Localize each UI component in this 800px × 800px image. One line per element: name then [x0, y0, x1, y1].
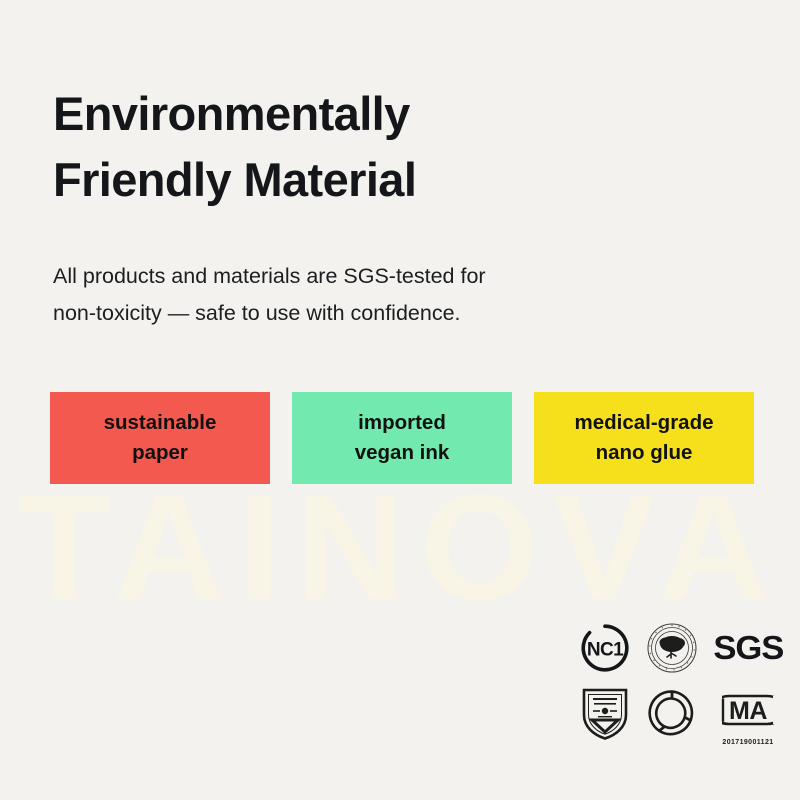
recycle-arrows-icon — [646, 687, 698, 739]
material-tag-row: sustainable paper imported vegan ink med… — [50, 392, 754, 484]
svg-text:MA: MA — [729, 697, 767, 725]
tree-seal-icon — [646, 622, 698, 674]
description-line-1: All products and materials are SGS-teste… — [53, 258, 673, 295]
tag-label-line-2: vegan ink — [355, 438, 450, 468]
page-title-line-1: Environmentally — [53, 81, 653, 147]
certification-badge-shield — [575, 682, 634, 744]
page-title-line-2: Friendly Material — [53, 147, 653, 213]
nc1-ring-icon: NC1 — [579, 622, 631, 674]
material-tag-vegan-ink: imported vegan ink — [292, 392, 512, 484]
cma-certificate-number: 201719001121 — [709, 739, 787, 746]
certification-badge-recycle — [642, 682, 701, 744]
tag-label-line-1: medical-grade — [575, 408, 714, 438]
certification-badge-grid: NC1 — [575, 618, 787, 744]
certification-badge-forest-seal — [642, 618, 701, 678]
certification-badge-sgs: SGS — [709, 618, 787, 678]
tag-label-line-1: sustainable — [104, 408, 217, 438]
tag-label-line-2: nano glue — [596, 438, 693, 468]
certification-badge-cma: MA 201719001121 — [709, 682, 787, 744]
description-text: All products and materials are SGS-teste… — [53, 258, 673, 332]
page-title: Environmentally Friendly Material — [53, 81, 653, 213]
description-line-2: non-toxicity — safe to use with confiden… — [53, 295, 673, 332]
svg-text:NC1: NC1 — [586, 640, 623, 661]
shield-chevron-icon — [580, 685, 630, 741]
brand-watermark: TAINOVA — [0, 472, 800, 622]
material-tag-sustainable-paper: sustainable paper — [50, 392, 270, 484]
poster-canvas: TAINOVA Environmentally Friendly Materia… — [0, 0, 800, 800]
material-tag-nano-glue: medical-grade nano glue — [534, 392, 754, 484]
tag-label-line-1: imported — [358, 408, 446, 438]
tag-label-line-2: paper — [132, 438, 188, 468]
cma-mark-icon: MA — [709, 693, 787, 733]
sgs-wordmark-icon: SGS — [713, 631, 783, 665]
certification-badge-nc1: NC1 — [575, 618, 634, 678]
